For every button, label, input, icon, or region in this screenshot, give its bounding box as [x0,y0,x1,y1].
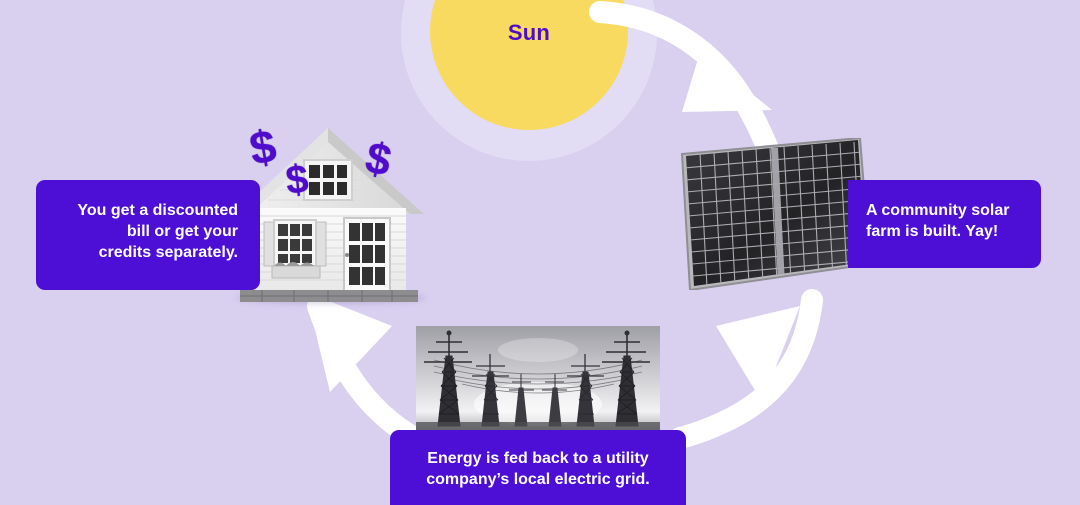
dollar-sign-icon: $ [284,159,310,201]
solar-panel-icon [676,138,872,290]
callout-line: Energy is fed back to a utility [406,448,670,469]
power-lines-icon [416,326,660,430]
diagram-canvas: Sun [0,0,1080,505]
callout-line: You get a discounted [52,200,238,221]
callout-line: bill or get your [52,221,238,242]
callout-electric-grid: Energy is fed back to a utility company’… [390,430,686,505]
callout-line: A community solar [866,200,1025,221]
callout-home-savings: You get a discounted bill or get your cr… [36,180,260,290]
callout-line: company’s local electric grid. [406,469,670,490]
callout-line: farm is built. Yay! [866,221,1025,242]
arrow-grid-to-house [306,292,418,440]
arrow-panel-to-grid [680,300,812,438]
callout-solar-farm: A community solar farm is built. Yay! [848,180,1041,268]
callout-line: credits separately. [52,242,238,263]
